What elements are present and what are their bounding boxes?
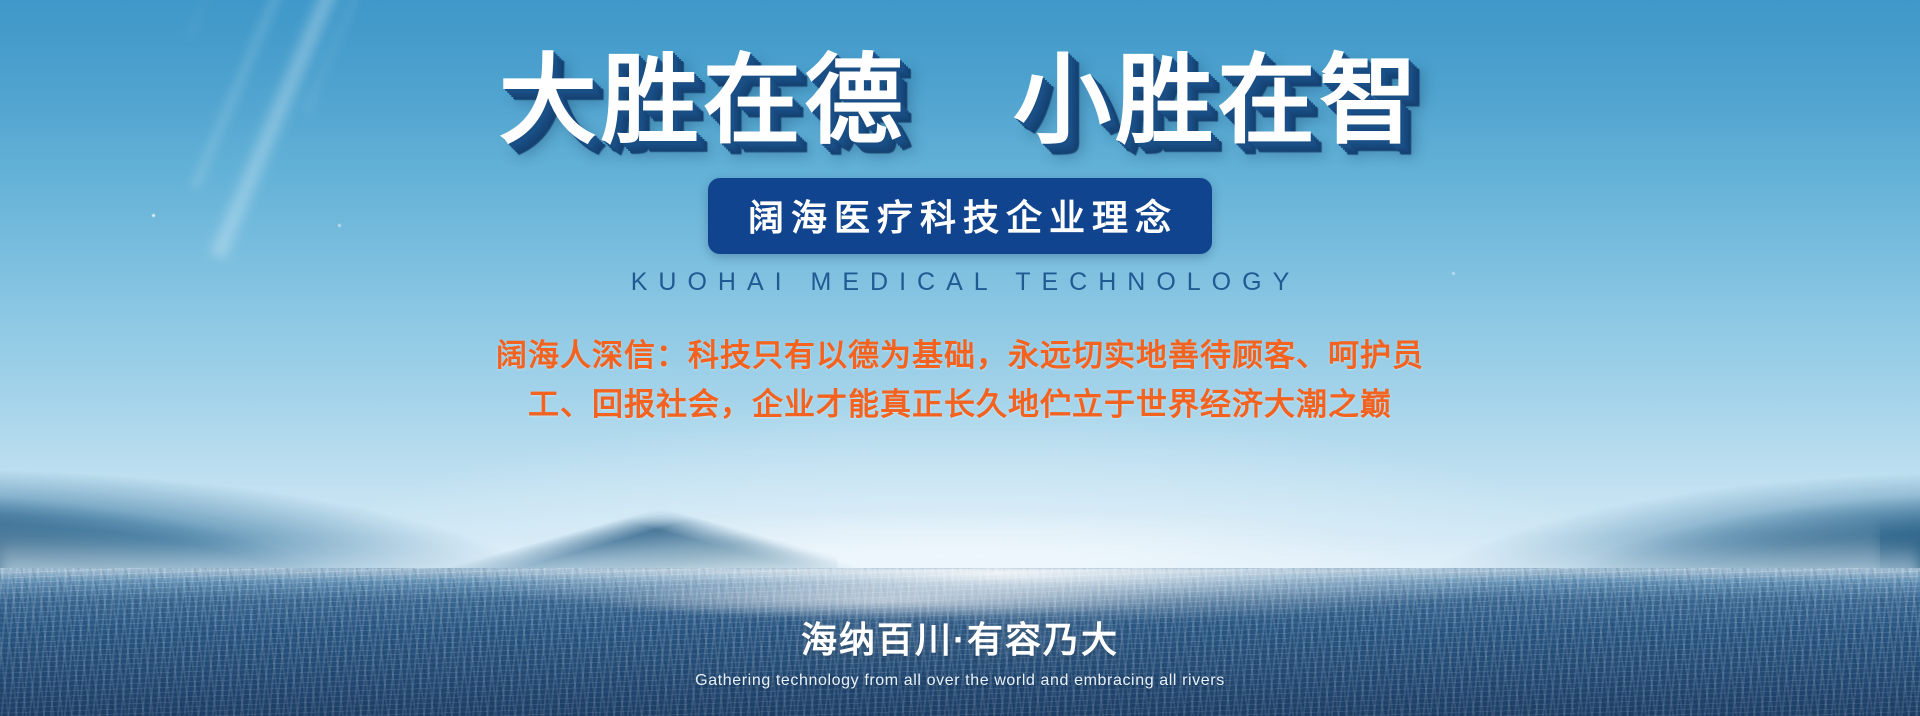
badge-container: 阔海医疗科技企业理念 — [708, 178, 1212, 254]
english-subtitle: KUOHAI MEDICAL TECHNOLOGY — [620, 268, 1301, 297]
promotional-banner: 大胜在德 小胜在智 阔海医疗科技企业理念 KUOHAI MEDICAL TECH… — [0, 0, 1920, 716]
headline-part-2: 小胜在智 — [1013, 45, 1421, 155]
philosophy-paragraph: 阔海人深信：科技只有以德为基础，永远切实地善待顾客、呵护员 工、回报社会，企业才… — [496, 331, 1424, 430]
philosophy-line-2: 工、回报社会，企业才能真正长久地伫立于世界经济大潮之巅 — [496, 380, 1424, 430]
headline: 大胜在德 小胜在智 — [499, 48, 1422, 154]
footer-slogan-en: Gathering technology from all over the w… — [695, 672, 1225, 690]
footer-slogan-cn: 海纳百川·有容乃大 — [801, 611, 1119, 663]
banner-content: 大胜在德 小胜在智 阔海医疗科技企业理念 KUOHAI MEDICAL TECH… — [0, 0, 1920, 716]
headline-part-1: 大胜在德 — [499, 45, 907, 155]
company-philosophy-badge: 阔海医疗科技企业理念 — [708, 178, 1212, 254]
philosophy-line-1: 阔海人深信：科技只有以德为基础，永远切实地善待顾客、呵护员 — [496, 331, 1424, 381]
footer-slogan-block: 海纳百川·有容乃大 Gathering technology from all … — [0, 611, 1920, 690]
